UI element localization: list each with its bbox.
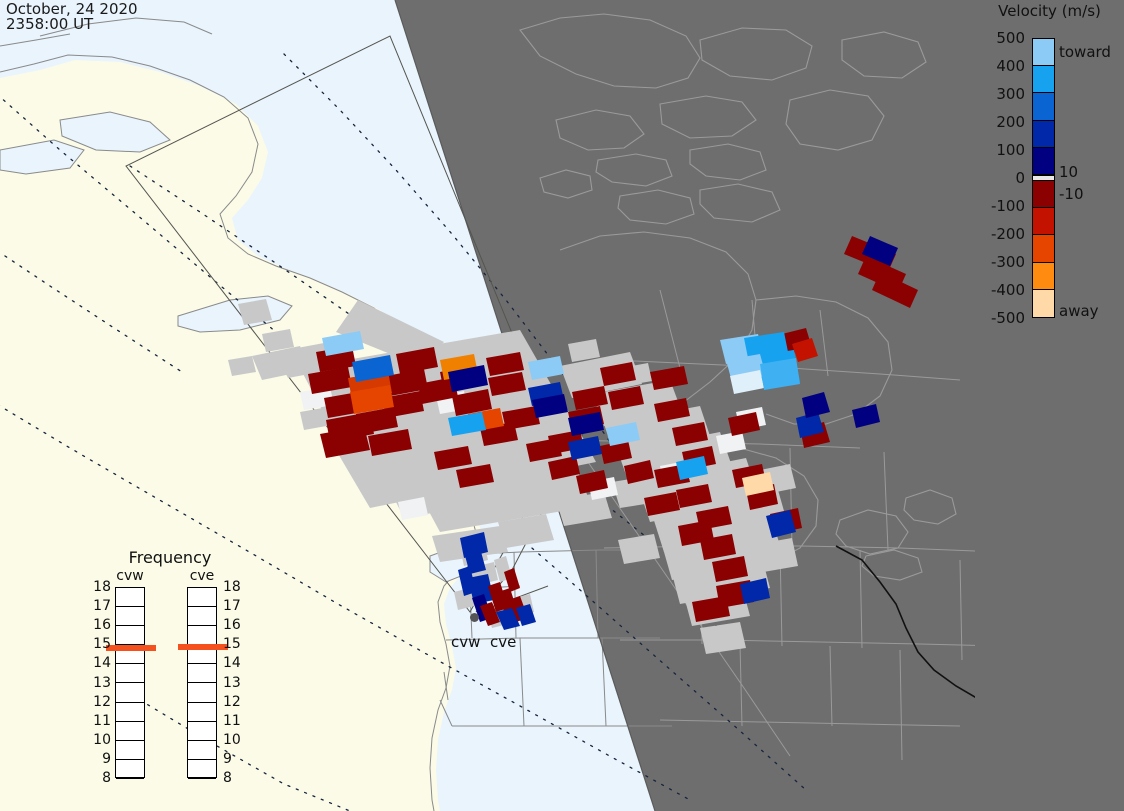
frequency-scale-label-16: 16 [223, 617, 241, 633]
frequency-cell [188, 760, 216, 779]
frequency-cell [116, 626, 144, 645]
colorbar-label-away: away [1059, 302, 1099, 320]
colorbar-segment-2 [1033, 93, 1054, 120]
frequency-scale-label-15: 15 [223, 636, 241, 652]
frequency-scale-label-9: 9 [223, 751, 232, 767]
frequency-scale-label-17: 17 [93, 598, 111, 614]
frequency-cell [116, 741, 144, 760]
frequency-legend: Frequency cvw 18171615141312111098 cve 1… [95, 545, 245, 795]
frequency-legend-title: Frequency [95, 548, 245, 567]
colorbar-tick-400: 400 [996, 57, 1025, 75]
radar-site-dot [470, 613, 479, 622]
frequency-scale-label-18: 18 [93, 579, 111, 595]
colorbar-label-toward: toward [1059, 43, 1111, 61]
colorbar-segment-4 [1033, 148, 1054, 175]
frequency-scale-label-17: 17 [223, 598, 241, 614]
frequency-cell [116, 588, 144, 607]
colorbar-tick-neg100: -100 [991, 197, 1025, 215]
frequency-column-cve: cve 18171615141312111098 [187, 587, 217, 778]
frequency-cell [188, 626, 216, 645]
frequency-cell [188, 703, 216, 722]
frequency-scale-label-8: 8 [223, 770, 232, 786]
colorbar-segment-0 [1033, 39, 1054, 66]
frequency-scale-label-11: 11 [223, 713, 241, 729]
colorbar-segment-9 [1033, 263, 1054, 290]
colorbar-gradient [1032, 38, 1055, 318]
frequency-cell [188, 588, 216, 607]
frequency-column-cvw: cvw 18171615141312111098 [115, 587, 145, 778]
frequency-scale-label-10: 10 [223, 732, 241, 748]
timestamp-block: October, 24 2020 2358:00 UT [6, 2, 138, 32]
colorbar-tick-neg400: -400 [991, 281, 1025, 299]
frequency-cell [188, 607, 216, 626]
frequency-scale-label-13: 13 [223, 675, 241, 691]
frequency-marker-cvw [106, 645, 156, 651]
frequency-scale-label-12: 12 [223, 694, 241, 710]
frequency-cell [188, 741, 216, 760]
frequency-scale-label-18: 18 [223, 579, 241, 595]
colorbar-label-pos-threshold: 10 [1059, 163, 1078, 181]
colorbar-label-neg-threshold: -10 [1059, 185, 1084, 203]
frequency-scale-label-9: 9 [102, 751, 111, 767]
frequency-cell [116, 607, 144, 626]
frequency-scale-label-16: 16 [93, 617, 111, 633]
colorbar-segment-1 [1033, 66, 1054, 93]
frequency-scale-label-12: 12 [93, 694, 111, 710]
frequency-marker-cve [178, 644, 228, 650]
colorbar-segment-6 [1033, 181, 1054, 208]
colorbar-tick-500: 500 [996, 29, 1025, 47]
colorbar-tick-100: 100 [996, 141, 1025, 159]
frequency-column-label-cvw: cvw [115, 568, 145, 584]
frequency-scale-label-14: 14 [93, 655, 111, 671]
frequency-scale-label-13: 13 [93, 675, 111, 691]
frequency-cell [188, 722, 216, 741]
colorbar-tick-neg200: -200 [991, 225, 1025, 243]
frequency-scale-label-14: 14 [223, 655, 241, 671]
site-label-cvw: cvw [451, 633, 480, 651]
colorbar-tick-300: 300 [996, 85, 1025, 103]
colorbar-tick-200: 200 [996, 113, 1025, 131]
frequency-cell [116, 760, 144, 779]
velocity-colorbar-panel: Velocity (m/s) 5004003002001000-100-200-… [975, 0, 1124, 811]
colorbar-tick-0: 0 [1015, 169, 1025, 187]
frequency-cell [116, 664, 144, 683]
frequency-scale-left: 18171615141312111098 [89, 587, 111, 778]
frequency-column-label-cve: cve [187, 568, 217, 584]
frequency-cell [116, 722, 144, 741]
timestamp-time: 2358:00 UT [6, 17, 138, 32]
frequency-cell [188, 683, 216, 702]
frequency-scale-label-11: 11 [93, 713, 111, 729]
frequency-cell [188, 664, 216, 683]
frequency-scale-label-8: 8 [102, 770, 111, 786]
frequency-scale-label-15: 15 [93, 636, 111, 652]
site-label-cve: cve [490, 633, 516, 651]
frequency-cell [116, 703, 144, 722]
radar-map-viewport: cvw cve October, 24 2020 2358:00 UT Freq… [0, 0, 1124, 811]
frequency-bar-cve [187, 587, 217, 778]
colorbar-tick-neg300: -300 [991, 253, 1025, 271]
frequency-cell [116, 683, 144, 702]
frequency-bar-cvw [115, 587, 145, 778]
frequency-scale-label-10: 10 [93, 732, 111, 748]
frequency-scale-right: 18171615141312111098 [223, 587, 245, 778]
colorbar-segment-8 [1033, 235, 1054, 262]
colorbar-tick-labels: 5004003002001000-100-200-300-400-500 [975, 0, 1027, 811]
colorbar-segment-3 [1033, 121, 1054, 148]
colorbar-segment-7 [1033, 208, 1054, 235]
colorbar-segment-10 [1033, 290, 1054, 317]
colorbar-tick-neg500: -500 [991, 309, 1025, 327]
